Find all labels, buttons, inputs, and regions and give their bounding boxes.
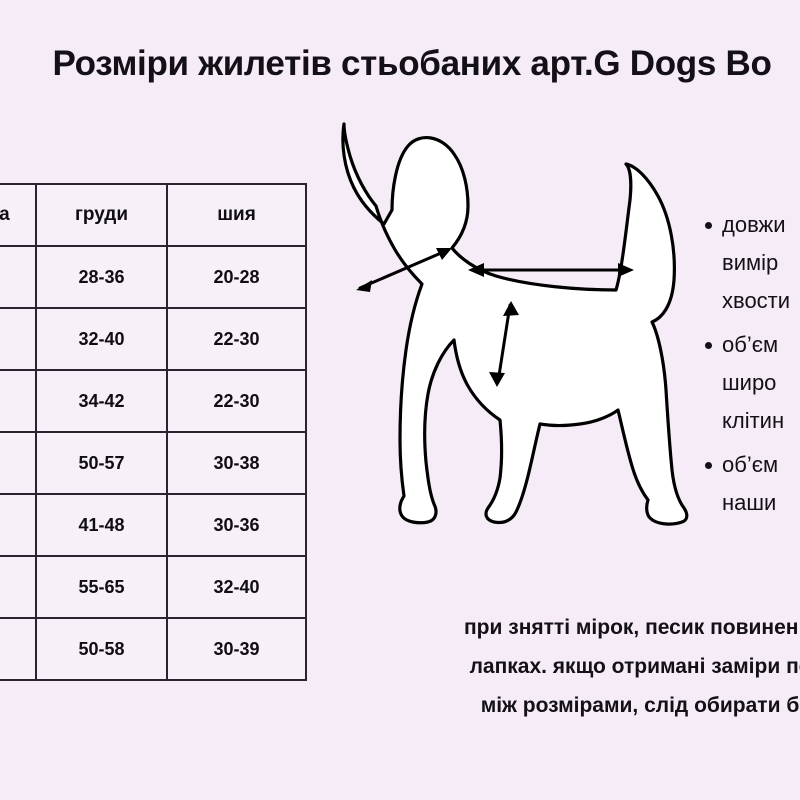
cell-neck: 22-30 [167,370,306,432]
table-row: 41-48 30-36 [0,494,306,556]
table-row: 50-58 30-39 [0,618,306,680]
cell-chest: 32-40 [36,308,167,370]
table-row: 55-65 32-40 [0,556,306,618]
cell-neck: 20-28 [167,246,306,308]
cell-neck: 30-39 [167,618,306,680]
cell-chest: 34-42 [36,370,167,432]
cell-size [0,432,36,494]
cell-chest: 50-58 [36,618,167,680]
table-row: 32-40 22-30 [0,308,306,370]
column-header-chest: груди [36,184,167,246]
cell-chest: 41-48 [36,494,167,556]
cell-size [0,246,36,308]
column-header-neck: шия [167,184,306,246]
list-item: довжи вимір хвости [722,206,800,320]
cell-neck: 22-30 [167,308,306,370]
table-header-row: довжина груди шия [0,184,306,246]
cell-chest: 55-65 [36,556,167,618]
page-title: Розміри жилетів стьобаних арт.G Dogs Bo [0,44,800,84]
list-item: об’єм наши [722,446,800,522]
size-table: довжина груди шия 28-36 20-28 32-40 22-3… [0,183,307,681]
table-row: 50-57 30-38 [0,432,306,494]
dog-illustration [330,110,702,530]
table-row: 28-36 20-28 [0,246,306,308]
column-header-length: довжина [0,184,36,246]
cell-neck: 30-38 [167,432,306,494]
cell-neck: 32-40 [167,556,306,618]
dog-outline-icon [330,110,702,530]
table-row: 34-42 22-30 [0,370,306,432]
cell-size [0,618,36,680]
cell-size [0,494,36,556]
cell-size [0,308,36,370]
cell-chest: 28-36 [36,246,167,308]
cell-chest: 50-57 [36,432,167,494]
footer-instruction-text: при знятті мірок, песик повинен с лапках… [330,608,800,725]
size-chart-page: Розміри жилетів стьобаних арт.G Dogs Bo … [0,0,800,800]
cell-size [0,370,36,432]
list-item: об’єм широ клітин [722,326,800,440]
cell-neck: 30-36 [167,494,306,556]
measurement-notes-list: довжи вимір хвости об’єм широ клітин об’… [700,206,800,528]
cell-size [0,556,36,618]
